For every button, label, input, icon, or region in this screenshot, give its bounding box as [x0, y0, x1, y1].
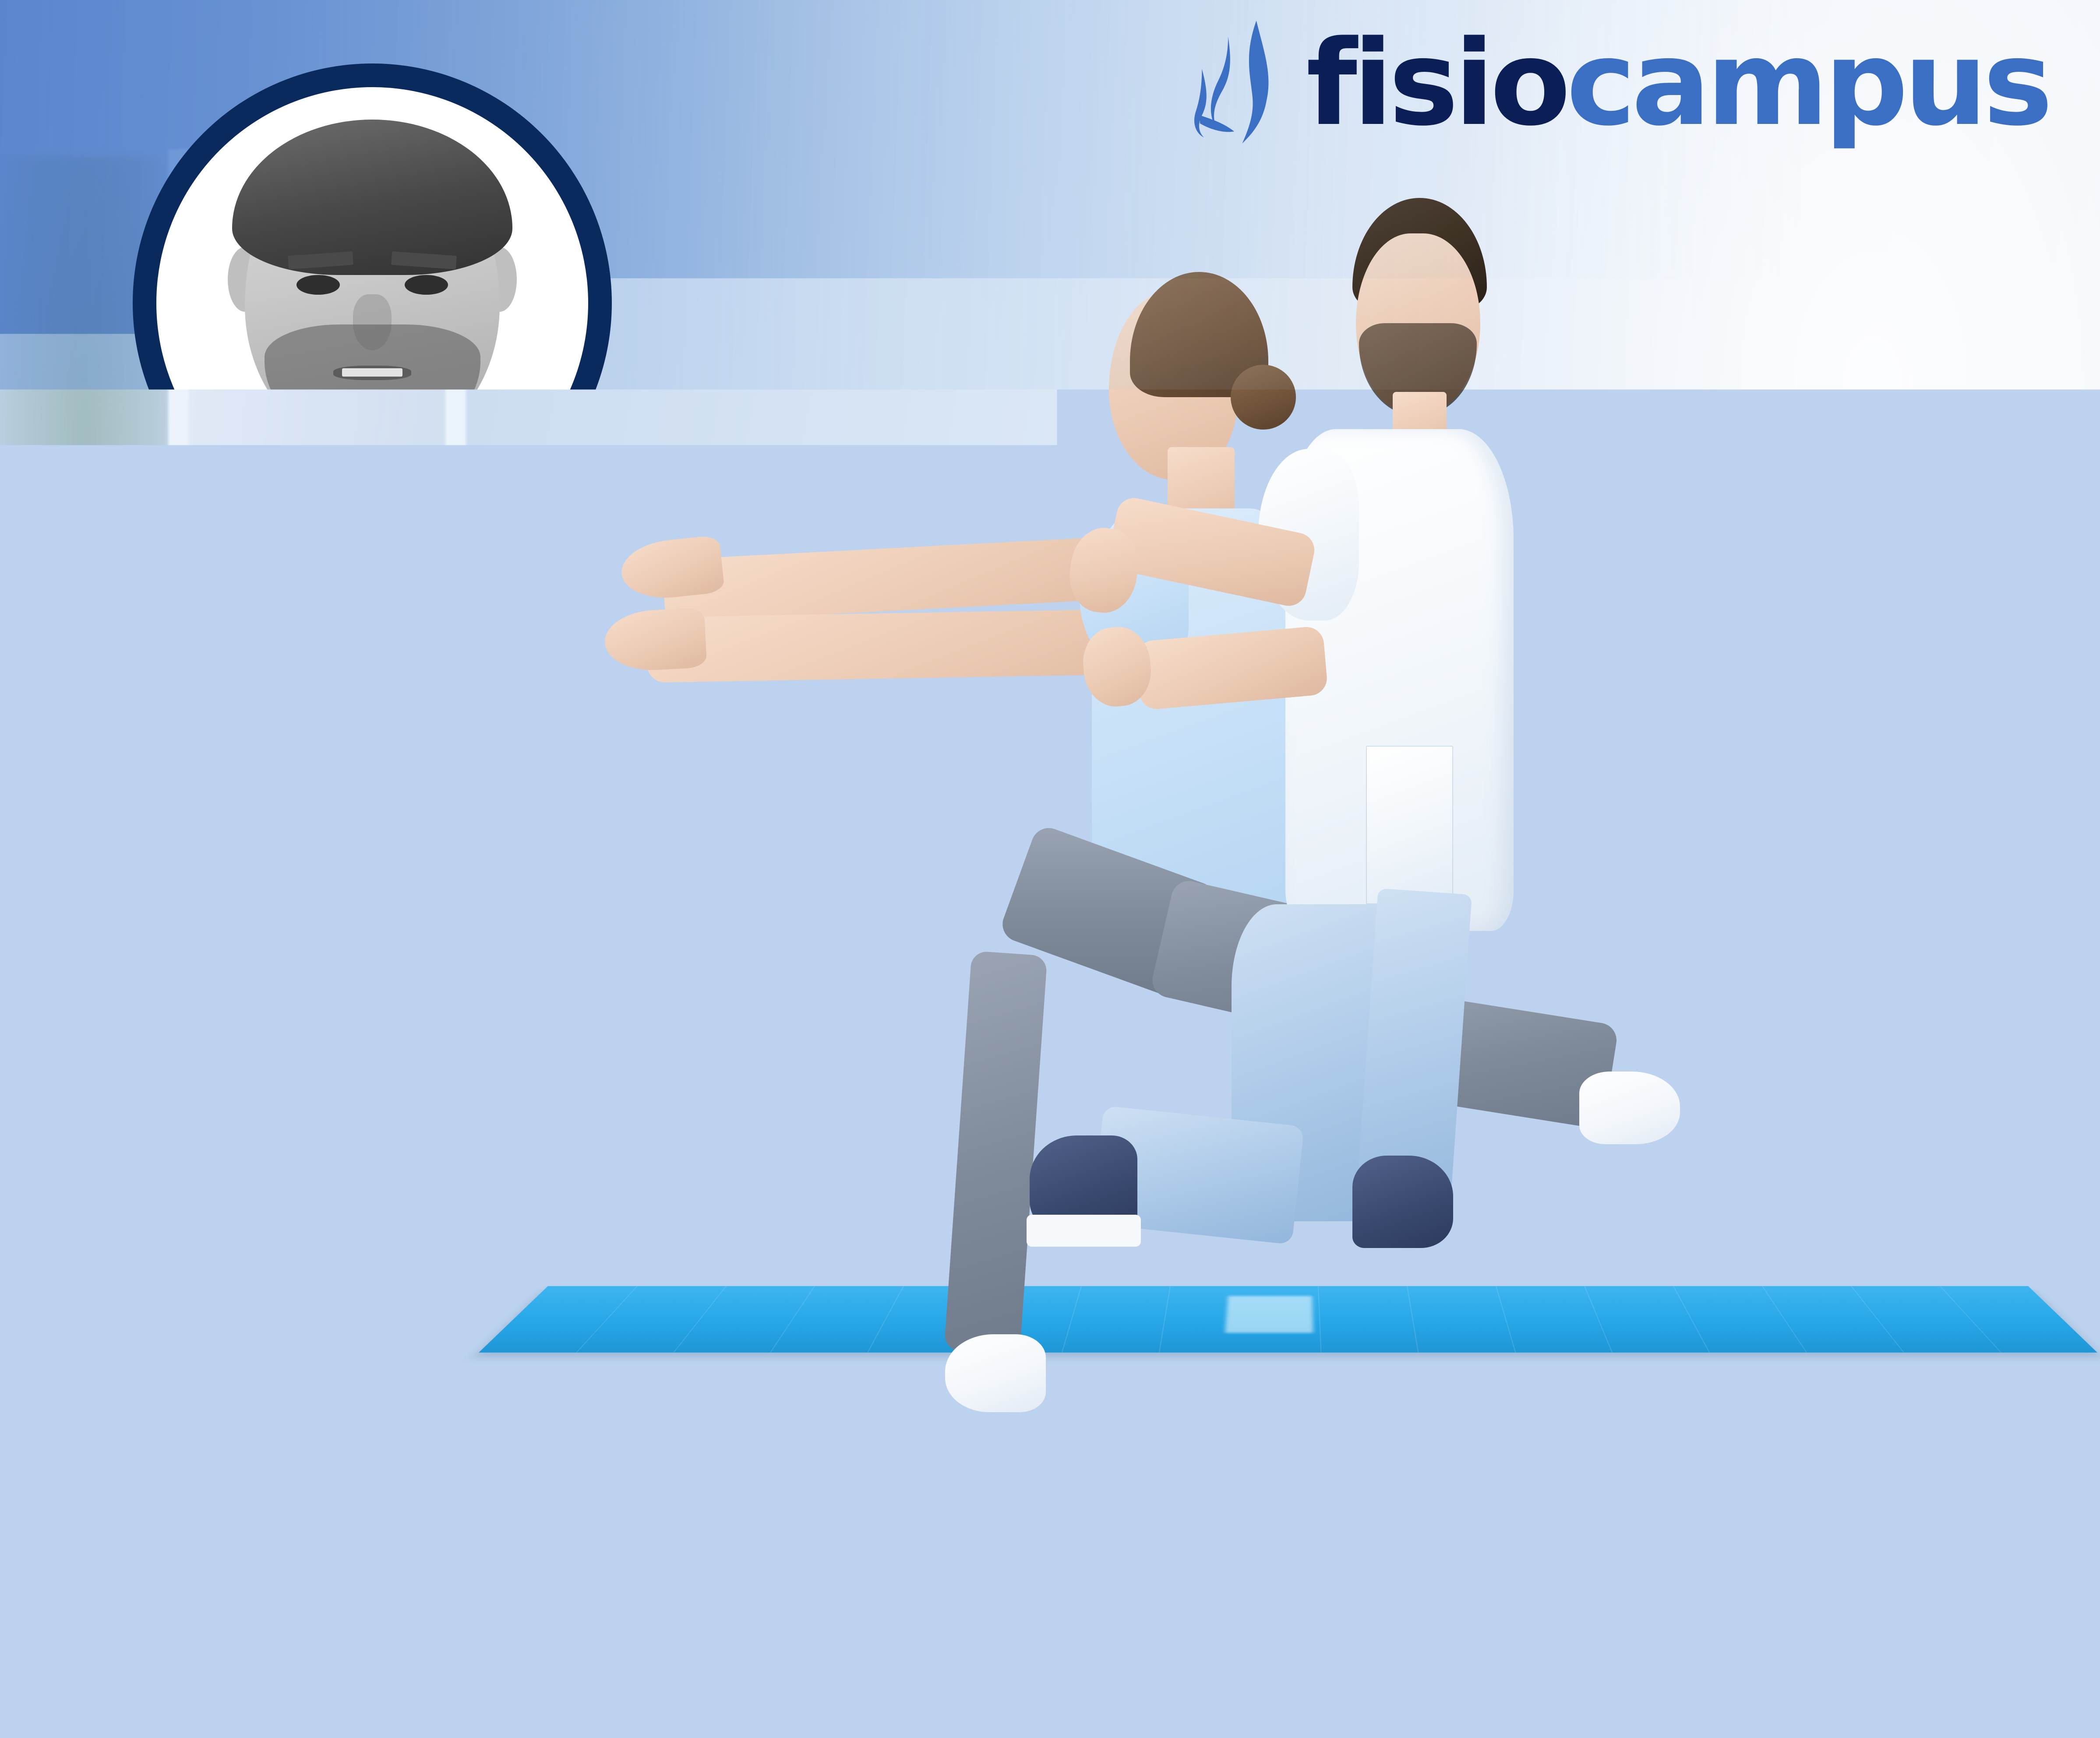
fisiocampus-logo[interactable]: fisiocampus — [1194, 18, 2048, 150]
profile-subtitle: Esp. Fisioterapia en Traumatología y Ort… — [37, 638, 707, 872]
footer-solid-bar — [0, 1699, 2100, 1738]
subtitle-line: Deportiva, Terapia Manual, — [37, 755, 707, 814]
subtitle-line: Esp. Fisioterapia en — [37, 638, 707, 696]
page-title: DAVID TRENADO — [60, 564, 685, 633]
flame-icon — [1194, 18, 1295, 150]
footer-gradient-bar — [0, 1622, 2100, 1699]
logo-text-campus: campus — [1566, 15, 2048, 152]
subtitle-line: entre otras áreas. — [37, 814, 707, 872]
subtitle-line: Traumatología y Ortopedia, — [37, 696, 707, 755]
promo-card: fisiocampus DAVID TRENADO Esp. Fisiotera… — [0, 0, 2100, 1738]
logo-wordmark: fisiocampus — [1306, 33, 2048, 134]
avatar-photo — [156, 87, 588, 519]
avatar — [133, 63, 612, 543]
logo-text-fisio: fisio — [1306, 15, 1566, 152]
